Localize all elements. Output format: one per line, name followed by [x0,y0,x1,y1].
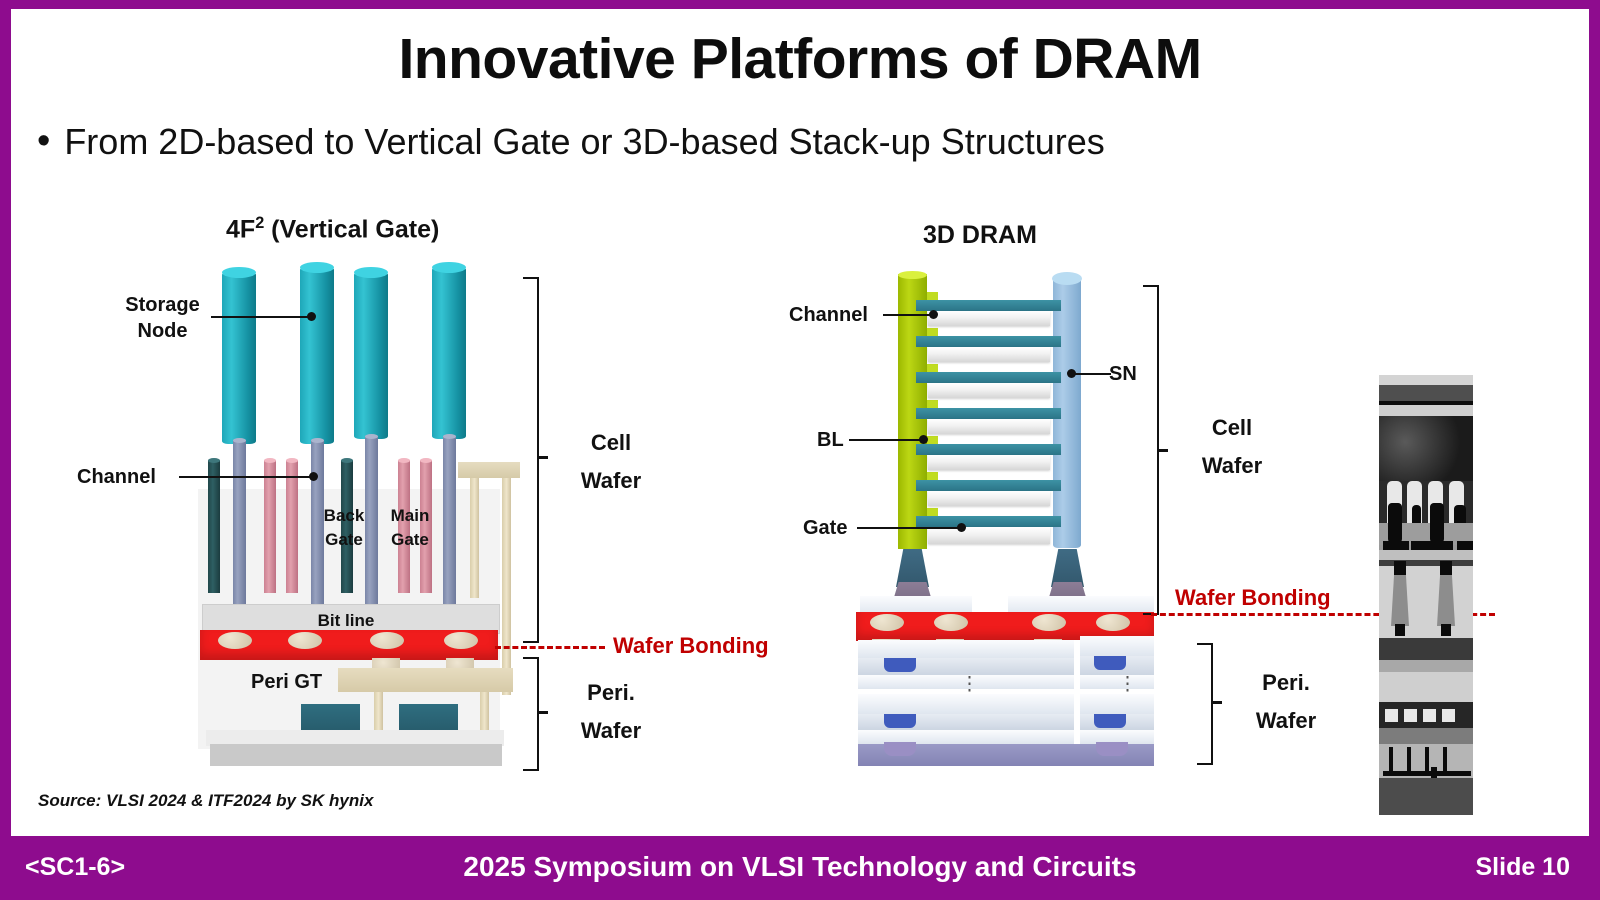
peri-stack-ellipsis: ⋮ [960,682,979,688]
bonding-bump [288,632,322,649]
bullet-text: From 2D-based to Vertical Gate or 3D-bas… [64,119,1104,165]
left-panel-title: 4F2 (Vertical Gate) [226,214,439,244]
slide-root: Innovative Platforms of DRAM • From 2D-b… [0,0,1600,900]
channel-layer [916,372,1061,383]
gate-plate [928,527,1050,544]
storage-node-cylinder [354,272,388,439]
tem-bitline-bar [1427,541,1453,550]
leader-dot-gate-mid [957,523,966,532]
bonding-bump [934,614,968,631]
bullet-marker: • [37,119,50,163]
peri-transistor-block [399,704,458,732]
three-d-dram-diagram: ⋮ ⋮ [856,264,1176,764]
channel-layer [916,300,1061,311]
label-gate-mid: Gate [803,515,847,541]
label-peri-wafer-mid: Peri. Wafer [1231,664,1341,740]
left-panel-title-rest: (Vertical Gate) [264,215,439,243]
bonding-bump [218,632,252,649]
tem-band [1379,550,1473,560]
label-wafer-bonding-mid: Wafer Bonding [1175,585,1331,611]
tem-metal-line [1437,771,1471,776]
bracket-tick-cell-wafer-mid [1157,449,1168,452]
label-wafer-bonding-mid-text: Wafer Bonding [1175,585,1331,610]
tem-bond-base [1395,624,1405,636]
source-note: Source: VLSI 2024 & ITF2024 by SK hynix [38,791,373,811]
leader-dot-channel-mid [929,310,938,319]
tem-metal-line [1407,747,1411,773]
bonding-bump [1032,614,1066,631]
label-main-gate: Main Gate [377,504,443,552]
peri-column-gap [1074,640,1080,744]
label-peri-gt: Peri GT [251,669,322,695]
gate-plate [928,455,1050,470]
leader-gate-mid [857,527,961,529]
storage-node-cylinder [300,267,334,444]
peri-slab [858,694,1074,714]
support-post [502,478,511,695]
support-beam-top [458,462,520,478]
tem-band [1379,728,1473,744]
label-peri-wafer-mid-l1: Peri. [1262,670,1310,695]
tem-bitline-bar [1457,541,1473,550]
peri-slab [1080,694,1154,714]
main-gate-pillar [264,460,276,593]
label-peri-wafer-left-l1: Peri. [587,680,635,705]
tem-bond-cap [1394,561,1406,575]
label-bl-mid-text: BL [817,429,844,451]
bracket-tick-cell-wafer-left [537,456,548,459]
peri-contact-pad [1094,714,1126,728]
tem-gate [1442,709,1455,722]
gate-plate [928,311,1050,326]
label-channel-left-text: Channel [77,466,156,488]
storage-node-cone [1051,549,1084,587]
leader-dot-storage-node [307,312,316,321]
label-peri-wafer-left: Peri. Wafer [556,674,666,750]
label-peri-wafer-mid-l2: Wafer [1256,708,1316,733]
peri-transistor-block [301,704,360,732]
peri-substrate [210,744,502,766]
tem-band [1379,638,1473,660]
tem-bitline-bar [1383,541,1409,550]
label-back-gate: Back Gate [311,504,377,552]
tem-dark-region [1379,416,1473,481]
label-storage-node-l2: Node [138,320,188,342]
bonding-bump [1096,614,1130,631]
peri-bottom-pad [884,742,916,756]
peri-contact-pad [884,714,916,728]
peri-post [374,692,383,732]
left-panel-title-4f: 4F [226,215,255,243]
channel-pillar [233,440,246,605]
channel-layer [916,480,1061,491]
leader-dot-bl-mid [919,435,928,444]
tem-gate [1385,709,1398,722]
gate-plate [928,419,1050,434]
bracket-peri-wafer-mid [1197,643,1213,765]
label-peri-wafer-left-l2: Wafer [581,718,641,743]
label-gate-mid-text: Gate [803,517,847,539]
leader-storage-node [211,316,309,318]
peri-slab [1080,675,1154,689]
tem-gate [1423,709,1436,722]
footer-conference-title: 2025 Symposium on VLSI Technology and Ci… [0,851,1600,883]
channel-pillar [443,436,456,605]
tem-metal-line [1425,747,1429,773]
tem-cross-section-image [1379,375,1473,815]
label-cell-wafer-left-l2: Wafer [581,468,641,493]
label-wafer-bonding-left-text: Wafer Bonding [613,633,769,658]
left-panel-title-exponent: 2 [255,214,264,232]
tem-contact-plug [1388,503,1402,543]
bracket-peri-wafer-left [523,657,539,771]
mid-panel-title-text: 3D DRAM [923,221,1037,249]
channel-layer [916,336,1061,347]
label-storage-node-l1: Storage [125,294,199,316]
tem-contact-plug [1430,503,1444,543]
label-bit-line-text: Bit line [318,611,375,630]
bonding-bump [444,632,478,649]
tem-band [1379,672,1473,702]
label-sn-mid-text: SN [1109,363,1137,385]
label-bit-line: Bit line [307,609,385,633]
bullet-row: • From 2D-based to Vertical Gate or 3D-b… [37,119,1557,165]
bonding-bump [870,614,904,631]
label-storage-node: Storage Node [115,292,210,344]
main-gate-pillar [286,460,298,593]
peri-contact-pad [1094,656,1126,670]
label-channel-mid-text: Channel [789,304,868,326]
leader-bl-mid [849,439,925,441]
storage-node-cylinder [222,272,256,444]
leader-channel-left [179,476,311,478]
tem-band [1379,375,1473,385]
tem-gate [1404,709,1417,722]
tem-metal-line [1443,747,1447,773]
peri-tan-plate [338,668,513,692]
tem-bond-cap [1440,561,1452,575]
tem-bond-base [1441,624,1451,636]
tem-band [1379,778,1473,815]
label-main-gate-l2: Gate [391,530,429,549]
page-title: Innovative Platforms of DRAM [11,26,1589,92]
bitline-cone [896,549,929,587]
label-main-gate-l1: Main [391,506,430,525]
gate-plate [928,347,1050,362]
tem-metal-line [1389,747,1393,773]
peri-stack-ellipsis: ⋮ [1118,682,1137,688]
bracket-tick-peri-wafer-mid [1211,701,1222,704]
peri-post [480,692,489,732]
label-cell-wafer-left: Cell Wafer [556,424,666,500]
label-back-gate-l1: Back [324,506,365,525]
peri-contact-pad [884,658,916,672]
label-cell-wafer-left-l1: Cell [591,430,631,455]
label-cell-wafer-mid: Cell Wafer [1177,409,1287,485]
gate-plate [928,383,1050,398]
label-back-gate-l2: Gate [325,530,363,549]
footer-bar: <SC1-6> 2025 Symposium on VLSI Technolog… [0,836,1600,900]
support-post [470,478,479,598]
channel-layer [916,516,1061,527]
tem-band [1379,405,1473,416]
storage-node-cylinder [432,267,466,439]
tem-metal-line [1383,771,1433,776]
label-wafer-bonding-left: Wafer Bonding [613,633,769,659]
footer-slide-number: Slide 10 [1476,853,1571,882]
label-sn-mid: SN [1109,361,1137,387]
channel-layer [916,444,1061,455]
label-peri-gt-text: Peri GT [251,671,322,693]
bonding-bump [370,632,404,649]
mid-panel-title: 3D DRAM [923,221,1037,250]
peri-bottom-pad [1096,742,1128,756]
bracket-tick-peri-wafer-left [537,711,548,714]
label-cell-wafer-mid-l2: Wafer [1202,453,1262,478]
back-gate-pillar [208,460,220,593]
bracket-cell-wafer-left [523,277,539,643]
leader-sn-mid [1073,373,1111,375]
tem-band [1379,385,1473,401]
label-channel-left: Channel [77,464,156,490]
label-cell-wafer-mid-l1: Cell [1212,415,1252,440]
leader-dot-channel-left [309,472,318,481]
bonding-dash-line-left [495,646,605,649]
label-channel-mid: Channel [789,302,868,328]
peri-slab [858,640,1074,658]
leader-dot-sn-mid [1067,369,1076,378]
peri-slab [1080,636,1154,656]
label-bl-mid: BL [817,427,844,453]
leader-channel-mid [883,314,933,316]
tem-band [1379,660,1473,672]
channel-layer [916,408,1061,419]
gate-plate [928,491,1050,506]
